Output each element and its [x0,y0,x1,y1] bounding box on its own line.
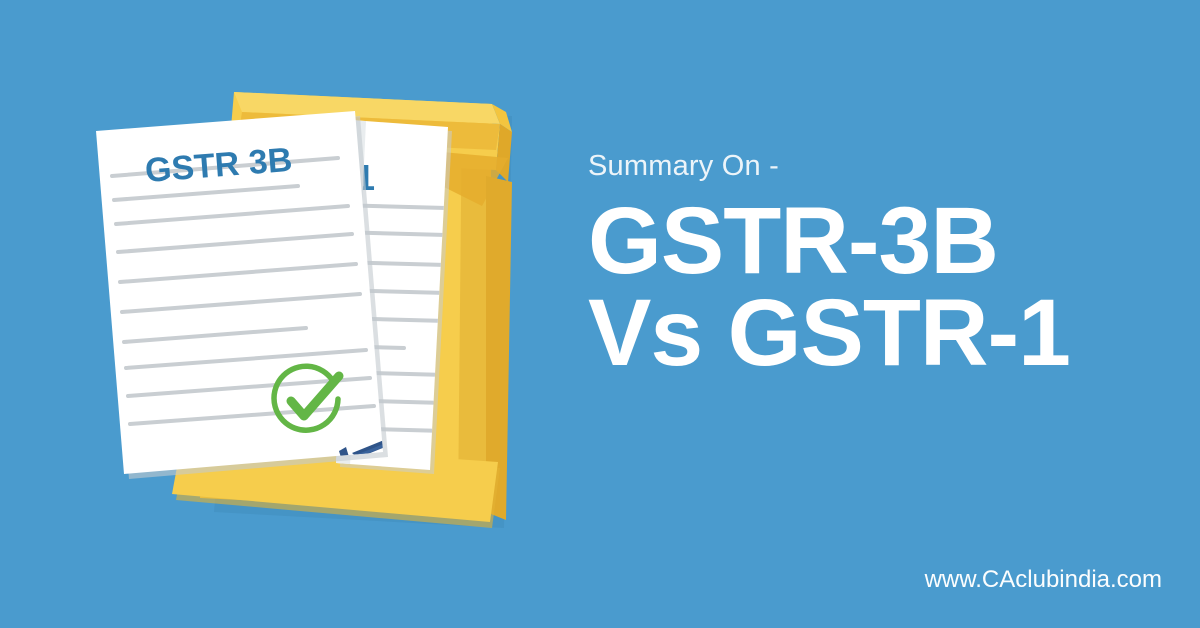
headline-line-2: Vs GSTR-1 [588,287,1188,379]
headline-line-1: GSTR-3B [588,195,1188,287]
page-title: GSTR-3B Vs GSTR-1 [588,195,1188,379]
site-url[interactable]: www.CAclubindia.com [925,568,1162,592]
eyebrow-text: Summary On - [588,152,1188,181]
headline-block: Summary On - GSTR-3B Vs GSTR-1 [588,152,1188,379]
banner-canvas: 1 [0,0,1200,628]
gstr-3b-document: GSTR 3B [96,111,410,479]
documents-in-envelope-illustration: 1 [0,0,600,628]
